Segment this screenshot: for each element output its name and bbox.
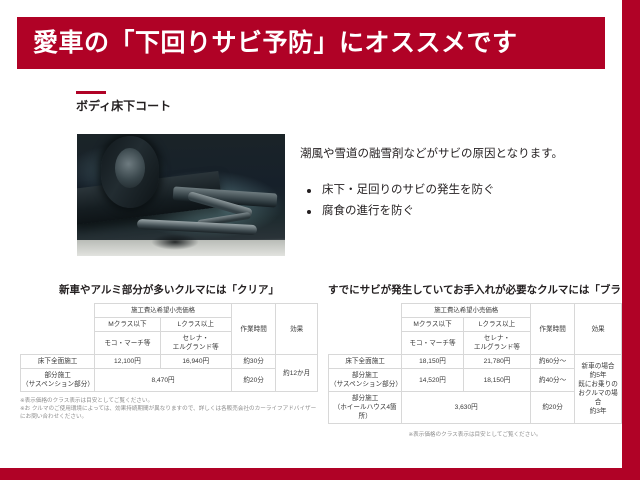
clear-spec-table: 施工費込希望小売価格 作業時間 効果 Mクラス以下 Lクラス以上 モコ・マーチ等…: [20, 303, 318, 392]
clear-price-group-header: 施工費込希望小売価格: [95, 304, 232, 318]
table-row: 部分施工 （サスペンション部分） 8,470円 約20分: [21, 369, 318, 392]
black-time-0: 約60分〜: [531, 355, 575, 369]
clear-col-effect: 効果: [276, 304, 318, 355]
black-table-notes: ※表示価格のクラス表示は目安としてご覧ください。: [328, 431, 622, 439]
black-price-l-0: 21,780円: [463, 355, 530, 369]
clear-time-0: 約30分: [231, 355, 276, 369]
black-table-caption: すでにサビが発生していてお手入れが必要なクルマには「ブラック」: [328, 284, 622, 297]
clear-price-span-1: 8,470円: [95, 369, 232, 392]
section-rule: [76, 91, 106, 94]
black-col-effect: 効果: [575, 304, 622, 355]
black-row-label-2: 部分施工 （ホイールハウス4箇所）: [329, 392, 402, 424]
black-price-l-1: 18,150円: [463, 369, 530, 392]
photo-exhaust-pipe: [137, 219, 257, 235]
header-banner: 愛車の「下回りサビ予防」にオススメです: [17, 17, 605, 69]
black-time-1: 約40分〜: [531, 369, 575, 392]
photo-shadow: [151, 234, 199, 250]
photo-rim: [115, 148, 145, 188]
black-row-label-0: 床下全面施工: [329, 355, 402, 369]
black-price-m-1: 14,520円: [402, 369, 464, 392]
clear-row-label-0: 床下全面施工: [21, 355, 95, 369]
clear-note-0: ※表示価格のクラス表示は目安としてご覧ください。: [20, 397, 318, 405]
black-time-2: 約20分: [531, 392, 575, 424]
clear-col-class-m: Mクラス以下: [95, 318, 160, 332]
section-title: ボディ床下コート: [76, 99, 171, 113]
clear-col-time: 作業時間: [231, 304, 276, 355]
clear-col-example-l: セレナ・ エルグランド等: [160, 332, 231, 355]
black-table-block: すでにサビが発生していてお手入れが必要なクルマには「ブラック」 施工費込希望小売…: [328, 284, 622, 439]
clear-price-l-0: 16,940円: [160, 355, 231, 369]
list-item: 床下・足回りのサビの発生を防ぐ: [300, 180, 612, 201]
table-row: 施工費込希望小売価格 作業時間 効果: [329, 304, 622, 318]
clear-time-1: 約20分: [231, 369, 276, 392]
black-spec-table: 施工費込希望小売価格 作業時間 効果 Mクラス以下 Lクラス以上 モコ・マーチ等…: [328, 303, 622, 424]
table-row: 床下全面施工 12,100円 16,940円 約30分 約12か月: [21, 355, 318, 369]
clear-row-label-1: 部分施工 （サスペンション部分）: [21, 369, 95, 392]
content-panel: 愛車の「下回りサビ予防」にオススメです ボディ床下コート 潮風や雪道の融雪剤など…: [0, 0, 622, 468]
black-effect-value: 新車の場合 約5年 既にお乗りの おクルマの場合 約3年: [575, 355, 622, 424]
table-row: 床下全面施工 18,150円 21,780円 約60分〜 新車の場合 約5年 既…: [329, 355, 622, 369]
list-item: 腐食の進行を防ぐ: [300, 201, 612, 222]
black-col-example-l: セレナ・ エルグランド等: [463, 332, 530, 355]
black-price-m-0: 18,150円: [402, 355, 464, 369]
clear-effect-value: 約12か月: [276, 355, 318, 392]
black-note-0: ※表示価格のクラス表示は目安としてご覧ください。: [328, 431, 622, 439]
black-col-example-m: モコ・マーチ等: [402, 332, 464, 355]
clear-col-example-m: モコ・マーチ等: [95, 332, 160, 355]
corner-blank: [329, 304, 402, 355]
black-col-time: 作業時間: [531, 304, 575, 355]
clear-col-class-l: Lクラス以上: [160, 318, 231, 332]
car-underbody-photo: [77, 134, 285, 256]
black-col-class-m: Mクラス以下: [402, 318, 464, 332]
clear-table-notes: ※表示価格のクラス表示は目安としてご覧ください。 ※お クルマのご使用環境によっ…: [20, 397, 318, 421]
clear-table-block: 新車やアルミ部分が多いクルマには「クリア」 施工費込希望小売価格 作業時間 効果…: [20, 284, 318, 421]
corner-blank: [21, 304, 95, 355]
black-price-group-header: 施工費込希望小売価格: [402, 304, 531, 318]
lead-text: 潮風や雪道の融雪剤などがサビの原因となります。: [300, 146, 612, 162]
clear-table-caption: 新車やアルミ部分が多いクルマには「クリア」: [20, 284, 318, 297]
banner-title: 愛車の「下回りサビ予防」にオススメです: [17, 31, 518, 56]
benefit-list: 床下・足回りのサビの発生を防ぐ 腐食の進行を防ぐ: [300, 180, 612, 222]
black-price-span-2: 3,630円: [402, 392, 531, 424]
black-col-class-l: Lクラス以上: [463, 318, 530, 332]
table-row: 施工費込希望小売価格 作業時間 効果: [21, 304, 318, 318]
black-row-label-1: 部分施工 （サスペンション部分）: [329, 369, 402, 392]
clear-note-1: ※お クルマのご使用環境によっては、効果持続期間が異なりますので、詳しくは各販売…: [20, 405, 318, 421]
clear-price-m-0: 12,100円: [95, 355, 160, 369]
page-background: 愛車の「下回りサビ予防」にオススメです ボディ床下コート 潮風や雪道の融雪剤など…: [0, 0, 640, 480]
